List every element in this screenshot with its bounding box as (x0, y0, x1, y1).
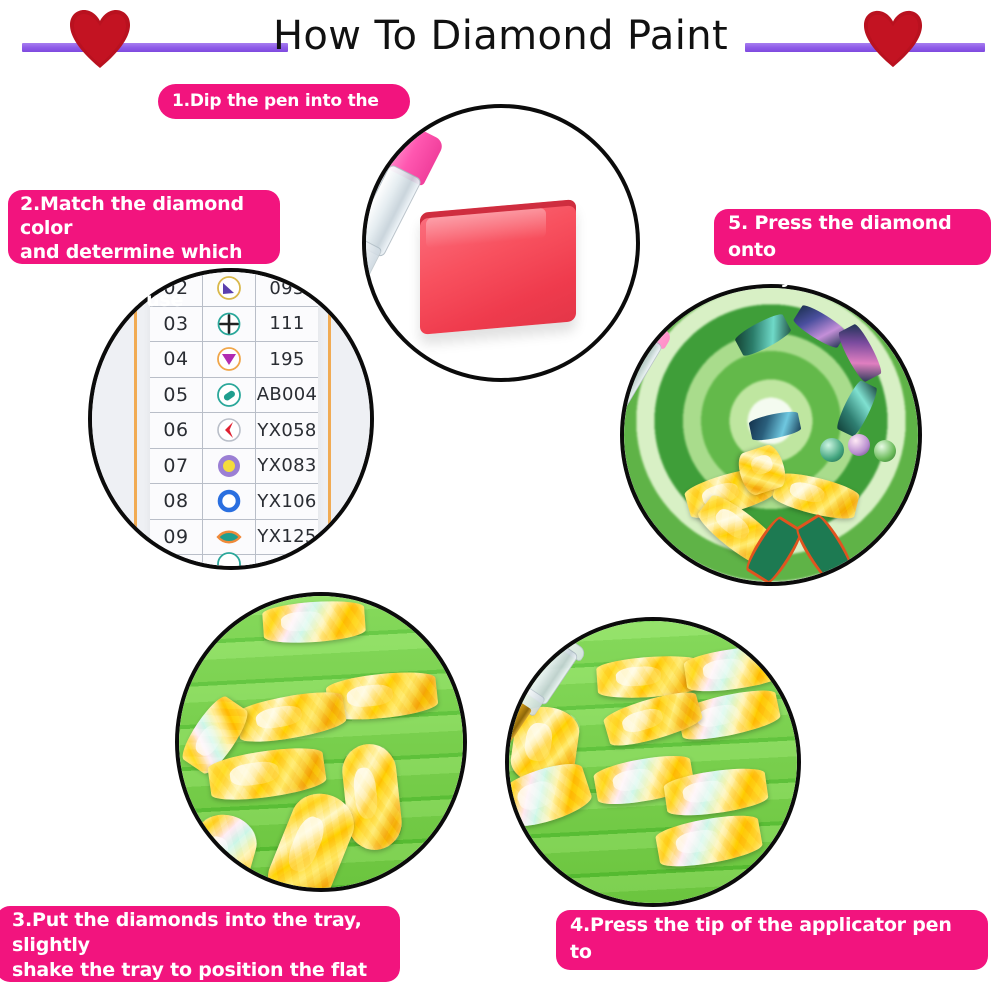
table-row: 08 YX106 (150, 484, 318, 520)
step-4-label-line-2: the rounded side of the diamond (570, 966, 974, 993)
step-4-photo-inner (509, 621, 797, 903)
step-3-label: 3.Put the diamonds into the tray, slight… (0, 906, 400, 982)
chart-margin-line-left (134, 272, 137, 566)
step-4-label: 4.Press the tip of the applicator pen to… (556, 910, 988, 970)
chart-code: 195 (256, 349, 318, 370)
step-5-photo-inner (624, 288, 918, 582)
chart-number: 07 (150, 455, 202, 477)
chart-number: 09 (150, 526, 202, 548)
table-row: 06 YX058 (150, 413, 318, 449)
chart-symbol (202, 413, 256, 448)
chart-number: 04 (150, 348, 202, 370)
step-3-photo (175, 592, 467, 892)
step-4-photo (505, 617, 801, 907)
step-2-photo: 028 02 093 (88, 268, 374, 570)
step-2-photo-inner: 028 02 093 (92, 272, 370, 566)
table-row: 05 AB004 (150, 378, 318, 414)
chart-margin-line-right (328, 272, 331, 566)
step-5-photo (620, 284, 922, 586)
step-2-label-line-3: diamond to use (20, 288, 268, 312)
step-1-photo (362, 104, 640, 382)
step-2-label-line-2: and determine which color (20, 240, 268, 288)
table-row-bottom-partial (150, 555, 318, 566)
gem-round (820, 438, 844, 462)
step-1-label-line-1: 1.Dip the pen into the gel (172, 84, 396, 154)
chart-symbol-bottom (202, 555, 256, 566)
chart-code: YX058 (256, 420, 318, 441)
chart-code: 111 (256, 313, 318, 334)
step-4-label-line-1: 4.Press the tip of the applicator pen to (570, 912, 974, 966)
leaf-teal-orange-icon (216, 524, 242, 550)
step-3-photo-inner (179, 596, 463, 888)
table-row: 07 YX083 (150, 449, 318, 485)
chart-code: YX106 (256, 491, 318, 512)
chart-code: AB004 (256, 384, 318, 405)
pen-body (366, 163, 423, 258)
step-3-label-line-2: shake the tray to position the flat side… (12, 958, 384, 1001)
step-2-label-line-1: 2.Match the diamond color (20, 192, 268, 240)
color-chart-table: 028 02 093 (150, 272, 318, 566)
gem-round (848, 434, 870, 456)
infographic-canvas: How To Diamond Paint 1.Dip the pen into … (0, 0, 1001, 1001)
chart-symbol (202, 520, 256, 555)
step-1-photo-inner (366, 108, 636, 378)
capsule-teal-icon (216, 551, 242, 566)
chart-code: YX083 (256, 455, 318, 476)
step-1-label: 1.Dip the pen into the gel (158, 84, 410, 119)
arrow-left-red-icon (216, 417, 242, 443)
step-5-label-line-1: 5. Press the diamond onto (728, 210, 977, 264)
page-title: How To Diamond Paint (0, 8, 1001, 64)
gem-round (874, 440, 896, 462)
table-row: 09 YX125 (150, 520, 318, 556)
triangle-magenta-icon (216, 346, 242, 372)
plus-black-icon (216, 311, 242, 337)
step-2-label: 2.Match the diamond color and determine … (8, 190, 280, 264)
capsule-teal-icon (216, 382, 242, 408)
chart-symbol (202, 378, 256, 413)
ring-yellow-purple-icon (216, 453, 242, 479)
gel-pad (420, 199, 576, 335)
table-row: 04 195 (150, 342, 318, 378)
chart-symbol (202, 484, 256, 519)
chart-number: 06 (150, 419, 202, 441)
step-5-label: 5. Press the diamond onto the symbol. (714, 209, 991, 265)
chart-code: YX125 (256, 526, 318, 547)
chart-number: 03 (150, 313, 202, 335)
chart-symbol (202, 342, 256, 377)
step-5-label-line-2: the symbol. (728, 264, 977, 291)
chart-number: 08 (150, 490, 202, 512)
chart-symbol (202, 449, 256, 484)
step-3-label-line-1: 3.Put the diamonds into the tray, slight… (12, 908, 384, 958)
ring-blue-icon (216, 488, 242, 514)
chart-number: 05 (150, 384, 202, 406)
